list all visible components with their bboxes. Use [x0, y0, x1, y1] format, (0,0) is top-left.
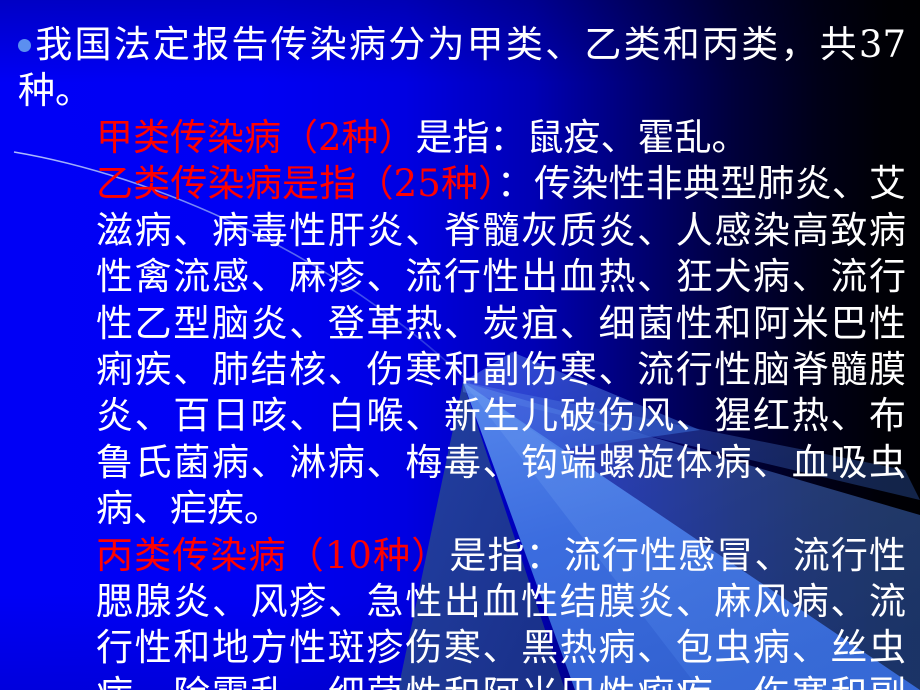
category-class-a: 甲类传染病（2种）是指：鼠疫、霍乱。 [18, 115, 906, 161]
class-a-heading: 甲类传染病（2种） [96, 116, 416, 159]
lead-paragraph: 我国法定报告传染病分为甲类、乙类和丙类，共37种。 [18, 22, 906, 115]
bullet-dot-icon [18, 39, 31, 52]
class-a-connector: 是指： [416, 116, 527, 159]
slide-body-text: 我国法定报告传染病分为甲类、乙类和丙类，共37种。 甲类传染病（2种）是指：鼠疫… [0, 22, 920, 690]
class-a-list: 鼠疫、霍乱。 [527, 116, 749, 159]
class-c-connector: 是指： [449, 534, 563, 577]
presentation-slide: 我国法定报告传染病分为甲类、乙类和丙类，共37种。 甲类传染病（2种）是指：鼠疫… [0, 0, 920, 690]
lead-text: 我国法定报告传染病分为甲类、乙类和丙类，共37种。 [18, 23, 906, 112]
class-b-heading: 乙类传染病是指（25种） [96, 162, 497, 205]
category-class-c: 丙类传染病（10种）是指：流行性感冒、流行性腮腺炎、风疹、急性出血性结膜炎、麻风… [18, 533, 906, 690]
class-b-list: 传染性非典型肺炎、艾滋病、病毒性肝炎、脊髓灰质炎、人感染高致病性禽流感、麻疹、流… [96, 162, 906, 530]
class-c-heading: 丙类传染病（10种） [96, 534, 449, 577]
category-class-b: 乙类传染病是指（25种）：传染性非典型肺炎、艾滋病、病毒性肝炎、脊髓灰质炎、人感… [18, 161, 906, 532]
class-b-connector: ： [497, 162, 534, 205]
